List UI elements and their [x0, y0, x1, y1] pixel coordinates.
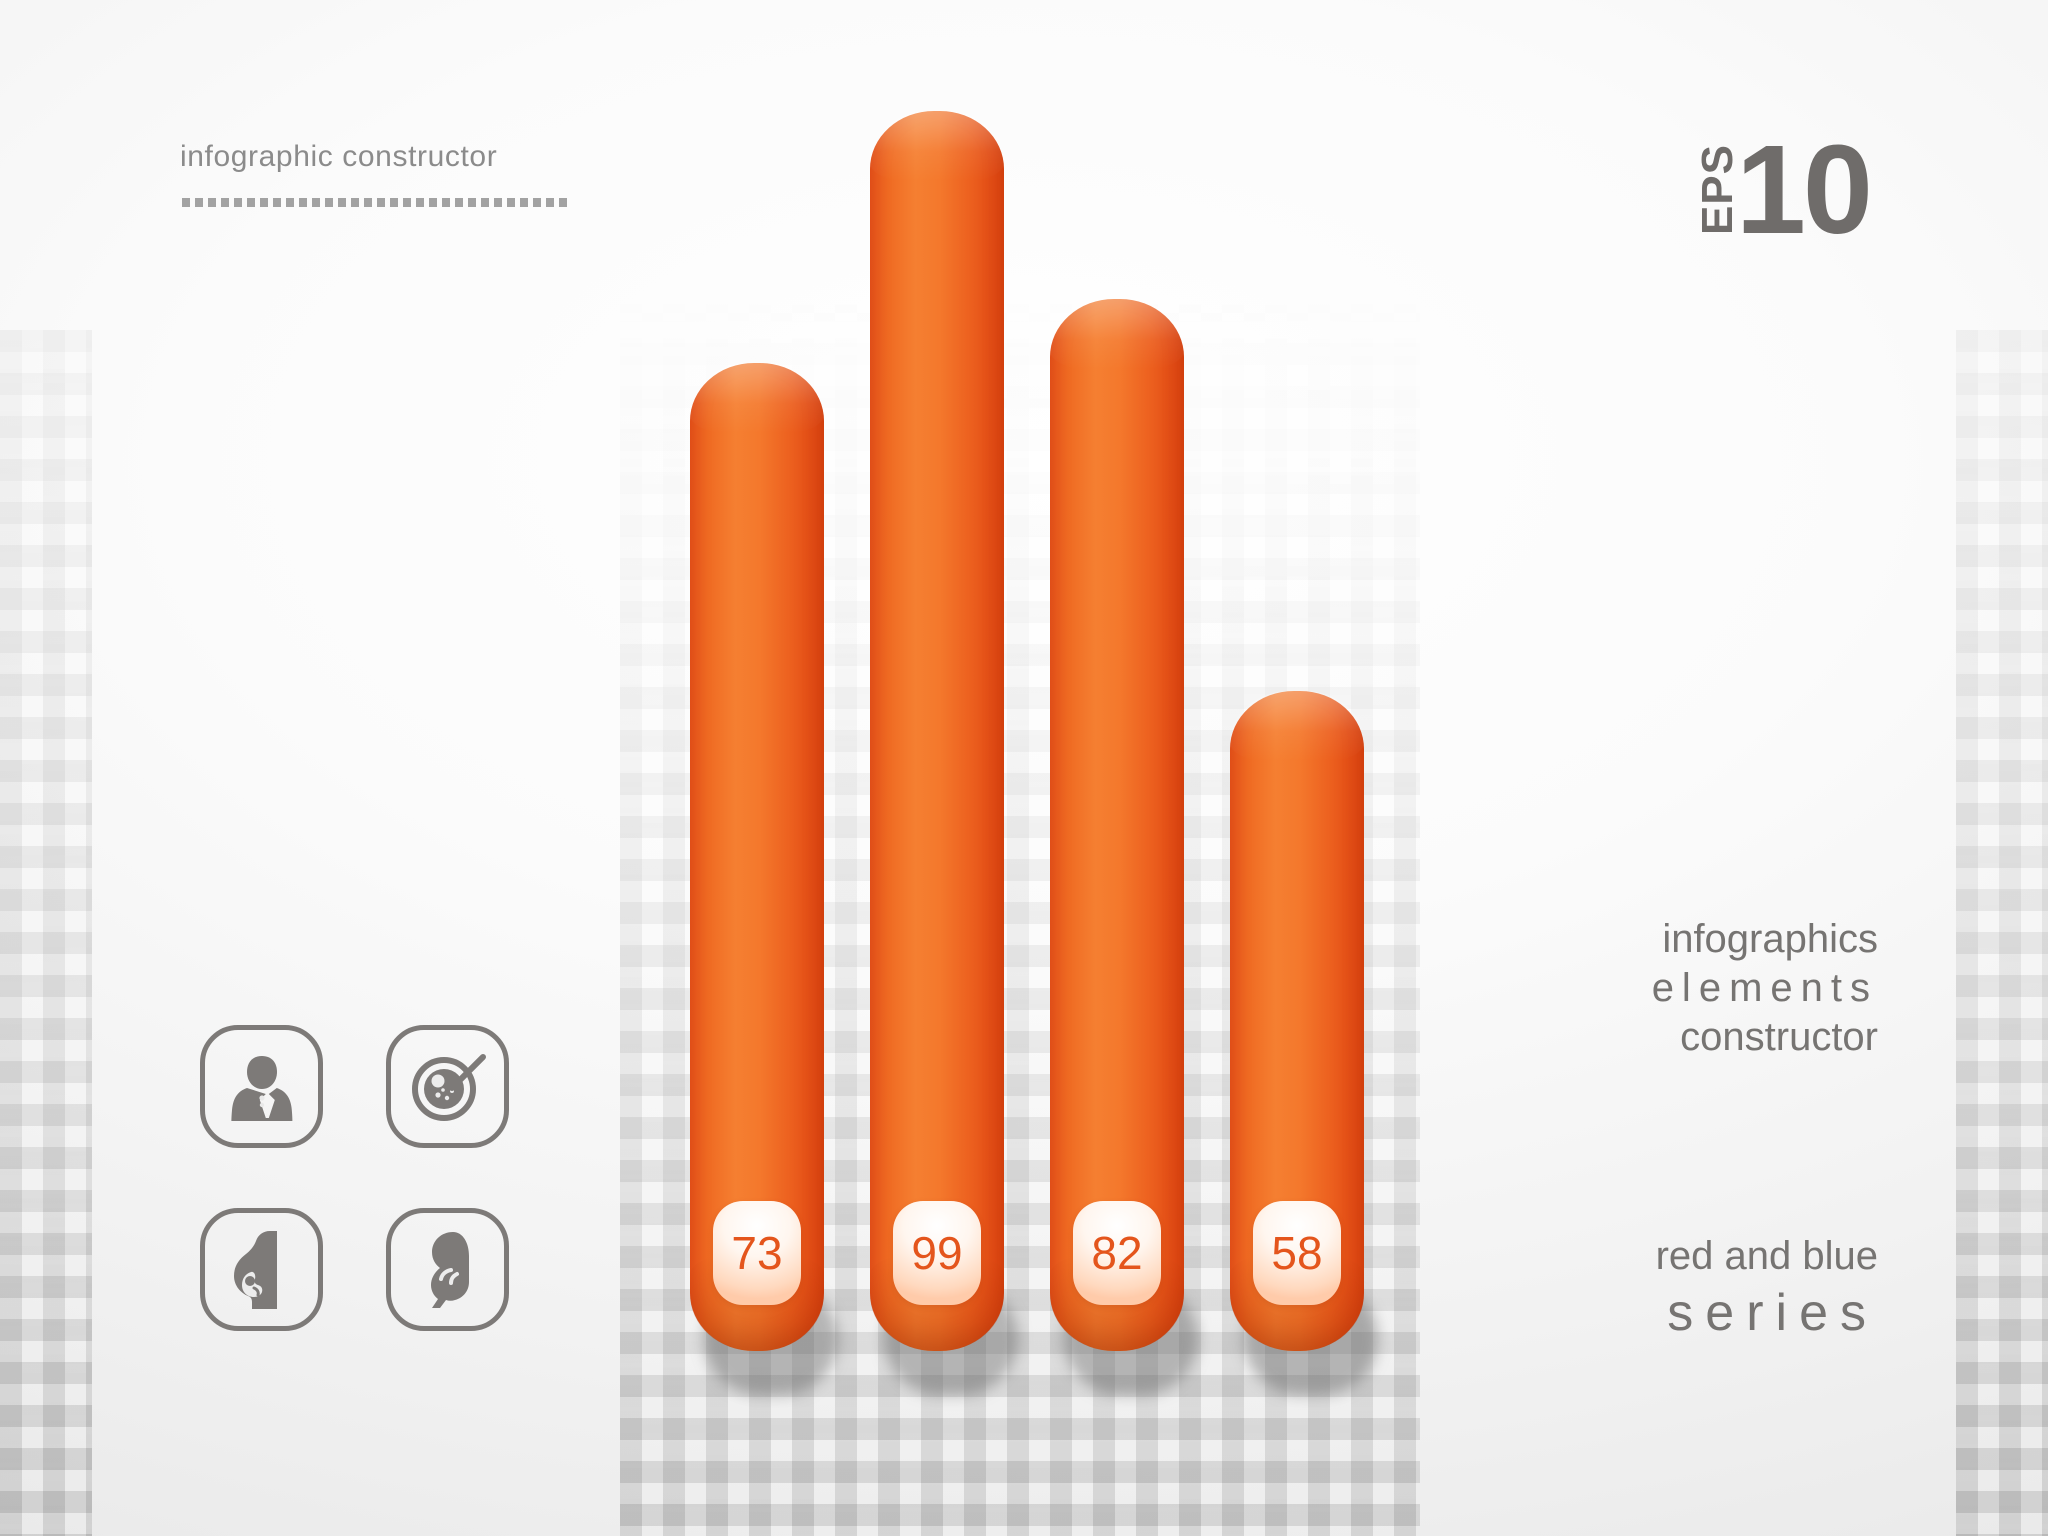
- bar-chart: 73 99 82 58: [690, 111, 1420, 1351]
- infographic-canvas: infographic constructor EPS 10 infograph…: [0, 0, 2048, 1536]
- bar-highlight-4: [1230, 691, 1364, 761]
- description-line-1: infographics: [1652, 915, 1878, 964]
- bar-column-4[interactable]: 58: [1230, 691, 1364, 1351]
- bar-body-3: 82: [1050, 299, 1184, 1351]
- bar-highlight-1: [690, 363, 824, 433]
- icon-tile-pregnancy[interactable]: [200, 1208, 323, 1331]
- dot-grid-left: [0, 330, 92, 1536]
- series-line-1: red and blue: [1656, 1232, 1878, 1281]
- eps-version-badge: EPS 10: [1696, 128, 1870, 252]
- title-dotted-divider: [182, 198, 570, 207]
- bar-column-2[interactable]: 99: [870, 111, 1004, 1351]
- dot-grid-right: [1956, 330, 2048, 1536]
- bar-body-1: 73: [690, 363, 824, 1351]
- egg-cell-needle-icon: [407, 1046, 489, 1128]
- bar-column-3[interactable]: 82: [1050, 299, 1184, 1351]
- bar-column-1[interactable]: 73: [690, 363, 824, 1351]
- description-line-3: constructor: [1652, 1013, 1878, 1062]
- series-line-2: series: [1656, 1281, 1878, 1346]
- icon-grid: [200, 1025, 509, 1331]
- bar-body-2: 99: [870, 111, 1004, 1351]
- fetus-icon: [411, 1228, 485, 1312]
- icon-tile-fetus[interactable]: [386, 1208, 509, 1331]
- description-block-upper: infographics elements constructor: [1652, 915, 1878, 1061]
- description-block-lower: red and blue series: [1656, 1232, 1878, 1346]
- icon-tile-ivf[interactable]: [386, 1025, 509, 1148]
- bar-value-label-4: 58: [1253, 1201, 1341, 1305]
- bar-value-label-2: 99: [893, 1201, 981, 1305]
- bar-highlight-3: [1050, 299, 1184, 369]
- description-line-2: elements: [1652, 964, 1878, 1013]
- eps-version-number: 10: [1736, 136, 1870, 244]
- page-title: infographic constructor: [180, 140, 497, 174]
- bar-value-label-3: 82: [1073, 1201, 1161, 1305]
- bar-highlight-2: [870, 111, 1004, 181]
- bar-body-4: 58: [1230, 691, 1364, 1351]
- bar-value-label-1: 73: [713, 1201, 801, 1305]
- pregnant-woman-icon: [223, 1228, 301, 1312]
- eps-format-label: EPS: [1696, 144, 1740, 235]
- icon-tile-woman[interactable]: [200, 1025, 323, 1148]
- woman-bust-icon: [223, 1048, 301, 1126]
